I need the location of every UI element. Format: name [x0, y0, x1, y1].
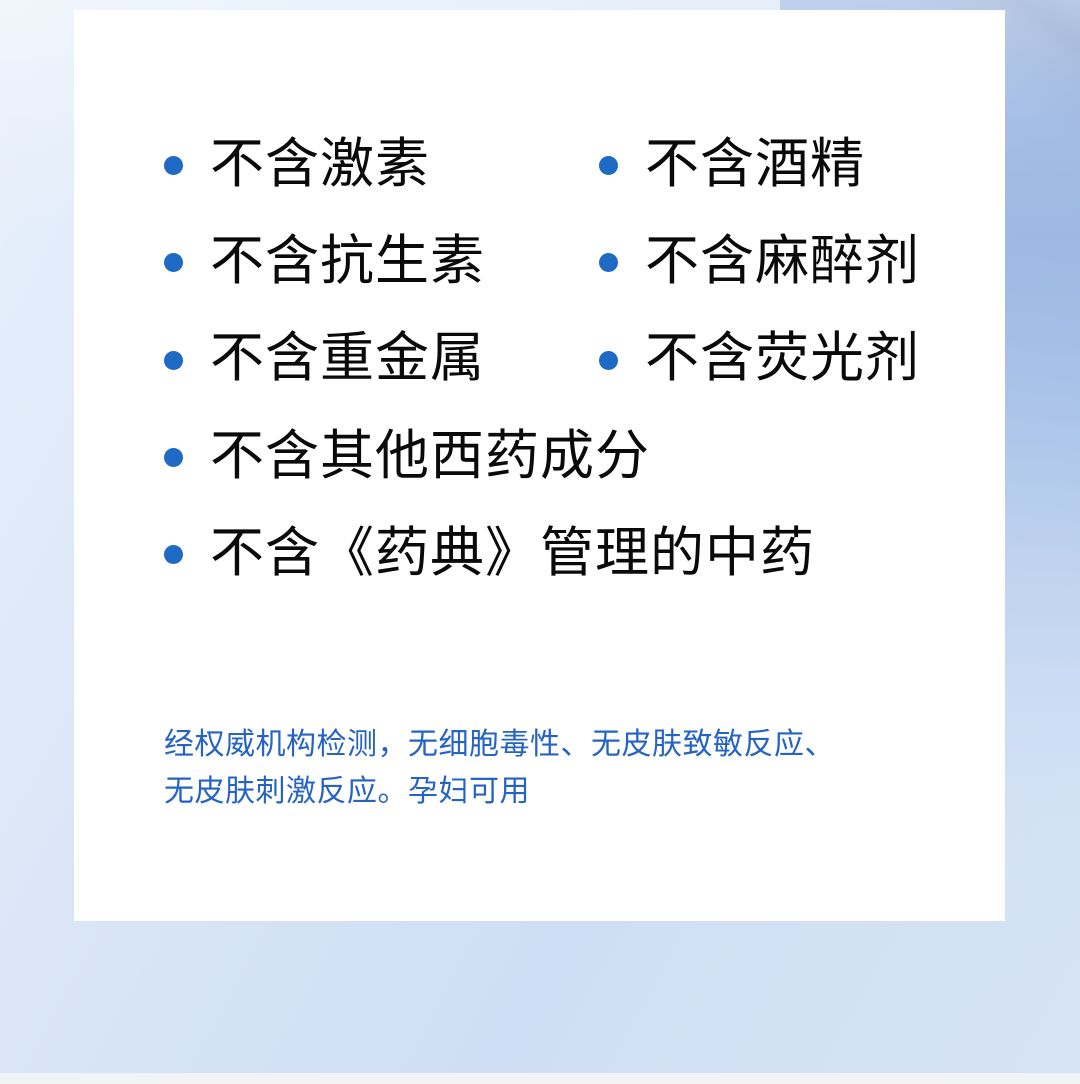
- bullet-label: 不含荧光剂: [645, 330, 920, 387]
- footnote-line-2: 无皮肤刺激反应。孕妇可用: [164, 769, 934, 816]
- list-item: 不含重金属: [164, 330, 599, 387]
- bullet-dot-icon: [164, 545, 183, 564]
- list-item: 不含酒精: [599, 136, 984, 193]
- bullet-row: 不含激素 不含酒精: [164, 136, 984, 193]
- bullet-dot-icon: [599, 156, 618, 175]
- bullet-label: 不含重金属: [210, 330, 485, 387]
- bullet-label: 不含酒精: [645, 136, 865, 193]
- bullet-dot-icon: [164, 156, 183, 175]
- content-card: 不含激素 不含酒精 不含抗生素 不含麻醉剂: [74, 10, 1005, 921]
- certification-footnote: 经权威机构检测，无细胞毒性、无皮肤致敏反应、 无皮肤刺激反应。孕妇可用: [164, 722, 934, 815]
- bullet-label: 不含激素: [210, 136, 430, 193]
- footnote-line-1: 经权威机构检测，无细胞毒性、无皮肤致敏反应、: [164, 722, 934, 769]
- background-bottom-strip: [0, 1073, 1080, 1084]
- bullet-dot-icon: [164, 448, 183, 467]
- ingredient-claims-list: 不含激素 不含酒精 不含抗生素 不含麻醉剂: [164, 136, 984, 582]
- bullet-dot-icon: [164, 253, 183, 272]
- bullet-row: 不含重金属 不含荧光剂: [164, 330, 984, 387]
- bullet-row: 不含抗生素 不含麻醉剂: [164, 233, 984, 290]
- bullet-dot-icon: [599, 351, 618, 370]
- bullet-label: 不含《药典》管理的中药: [210, 525, 815, 582]
- bullet-dot-icon: [164, 351, 183, 370]
- bullet-dot-icon: [599, 253, 618, 272]
- list-item: 不含抗生素: [164, 233, 599, 290]
- bullet-label: 不含抗生素: [210, 233, 485, 290]
- bullet-row: 不含《药典》管理的中药: [164, 525, 984, 582]
- poster-canvas: 不含激素 不含酒精 不含抗生素 不含麻醉剂: [0, 0, 1080, 1084]
- list-item: 不含《药典》管理的中药: [164, 525, 984, 582]
- list-item: 不含荧光剂: [599, 330, 984, 387]
- list-item: 不含激素: [164, 136, 599, 193]
- bullet-label: 不含其他西药成分: [210, 428, 650, 485]
- bullet-label: 不含麻醉剂: [645, 233, 920, 290]
- list-item: 不含其他西药成分: [164, 428, 984, 485]
- bullet-row: 不含其他西药成分: [164, 428, 984, 485]
- list-item: 不含麻醉剂: [599, 233, 984, 290]
